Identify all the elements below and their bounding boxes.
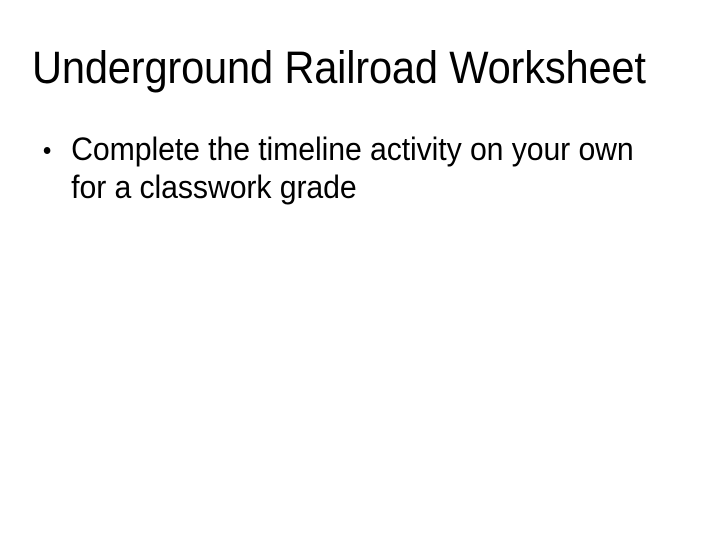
page-title: Underground Railroad Worksheet — [32, 43, 643, 93]
slide-canvas: Underground Railroad Worksheet Complete … — [0, 0, 720, 540]
list-item-label: Complete the timeline activity on your o… — [71, 130, 664, 206]
bullet-list: Complete the timeline activity on your o… — [40, 130, 700, 206]
bullet-dot-icon — [44, 147, 51, 154]
list-item: Complete the timeline activity on your o… — [40, 130, 664, 206]
